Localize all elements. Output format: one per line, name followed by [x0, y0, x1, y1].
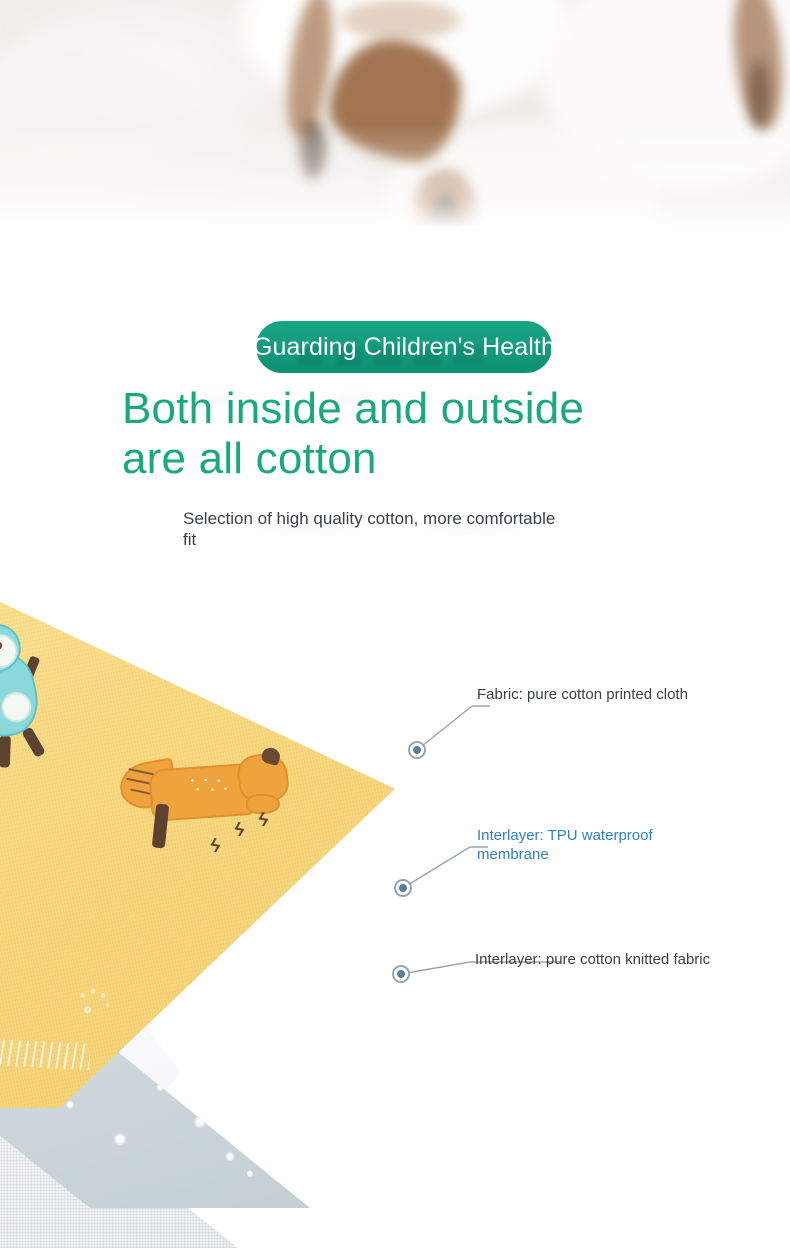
paw-print: [78, 986, 112, 1018]
deer-antler: [21, 727, 46, 758]
cotton-boll-photo: [0, 0, 790, 226]
callout-label-fabric: Fabric: pure cotton printed cloth: [477, 685, 707, 704]
badge: Guarding Children's Health: [256, 321, 552, 373]
page-title-line-2: are all cotton: [122, 434, 722, 484]
callout-label-tpu: Interlayer: TPU waterproof membrane: [477, 826, 727, 864]
product-detail-page: Guarding Children's Health Both inside a…: [0, 0, 790, 1228]
badge-label: Guarding Children's Health: [242, 321, 566, 373]
callout-label-knit: Interlayer: pure cotton knitted fabric: [475, 950, 775, 969]
fox-spots: [188, 776, 232, 798]
page-title: Both inside and outside are all cotton: [122, 384, 722, 484]
page-subtitle: Selection of high quality cotton, more c…: [183, 508, 563, 550]
page-title-line-1: Both inside and outside: [122, 384, 722, 434]
photo-fade-overlay: [0, 0, 790, 226]
deer-antler: [0, 735, 11, 767]
fox-print: [120, 746, 290, 856]
fabric-swatch-stack: ϟ ϟ ϟ: [0, 548, 470, 1228]
